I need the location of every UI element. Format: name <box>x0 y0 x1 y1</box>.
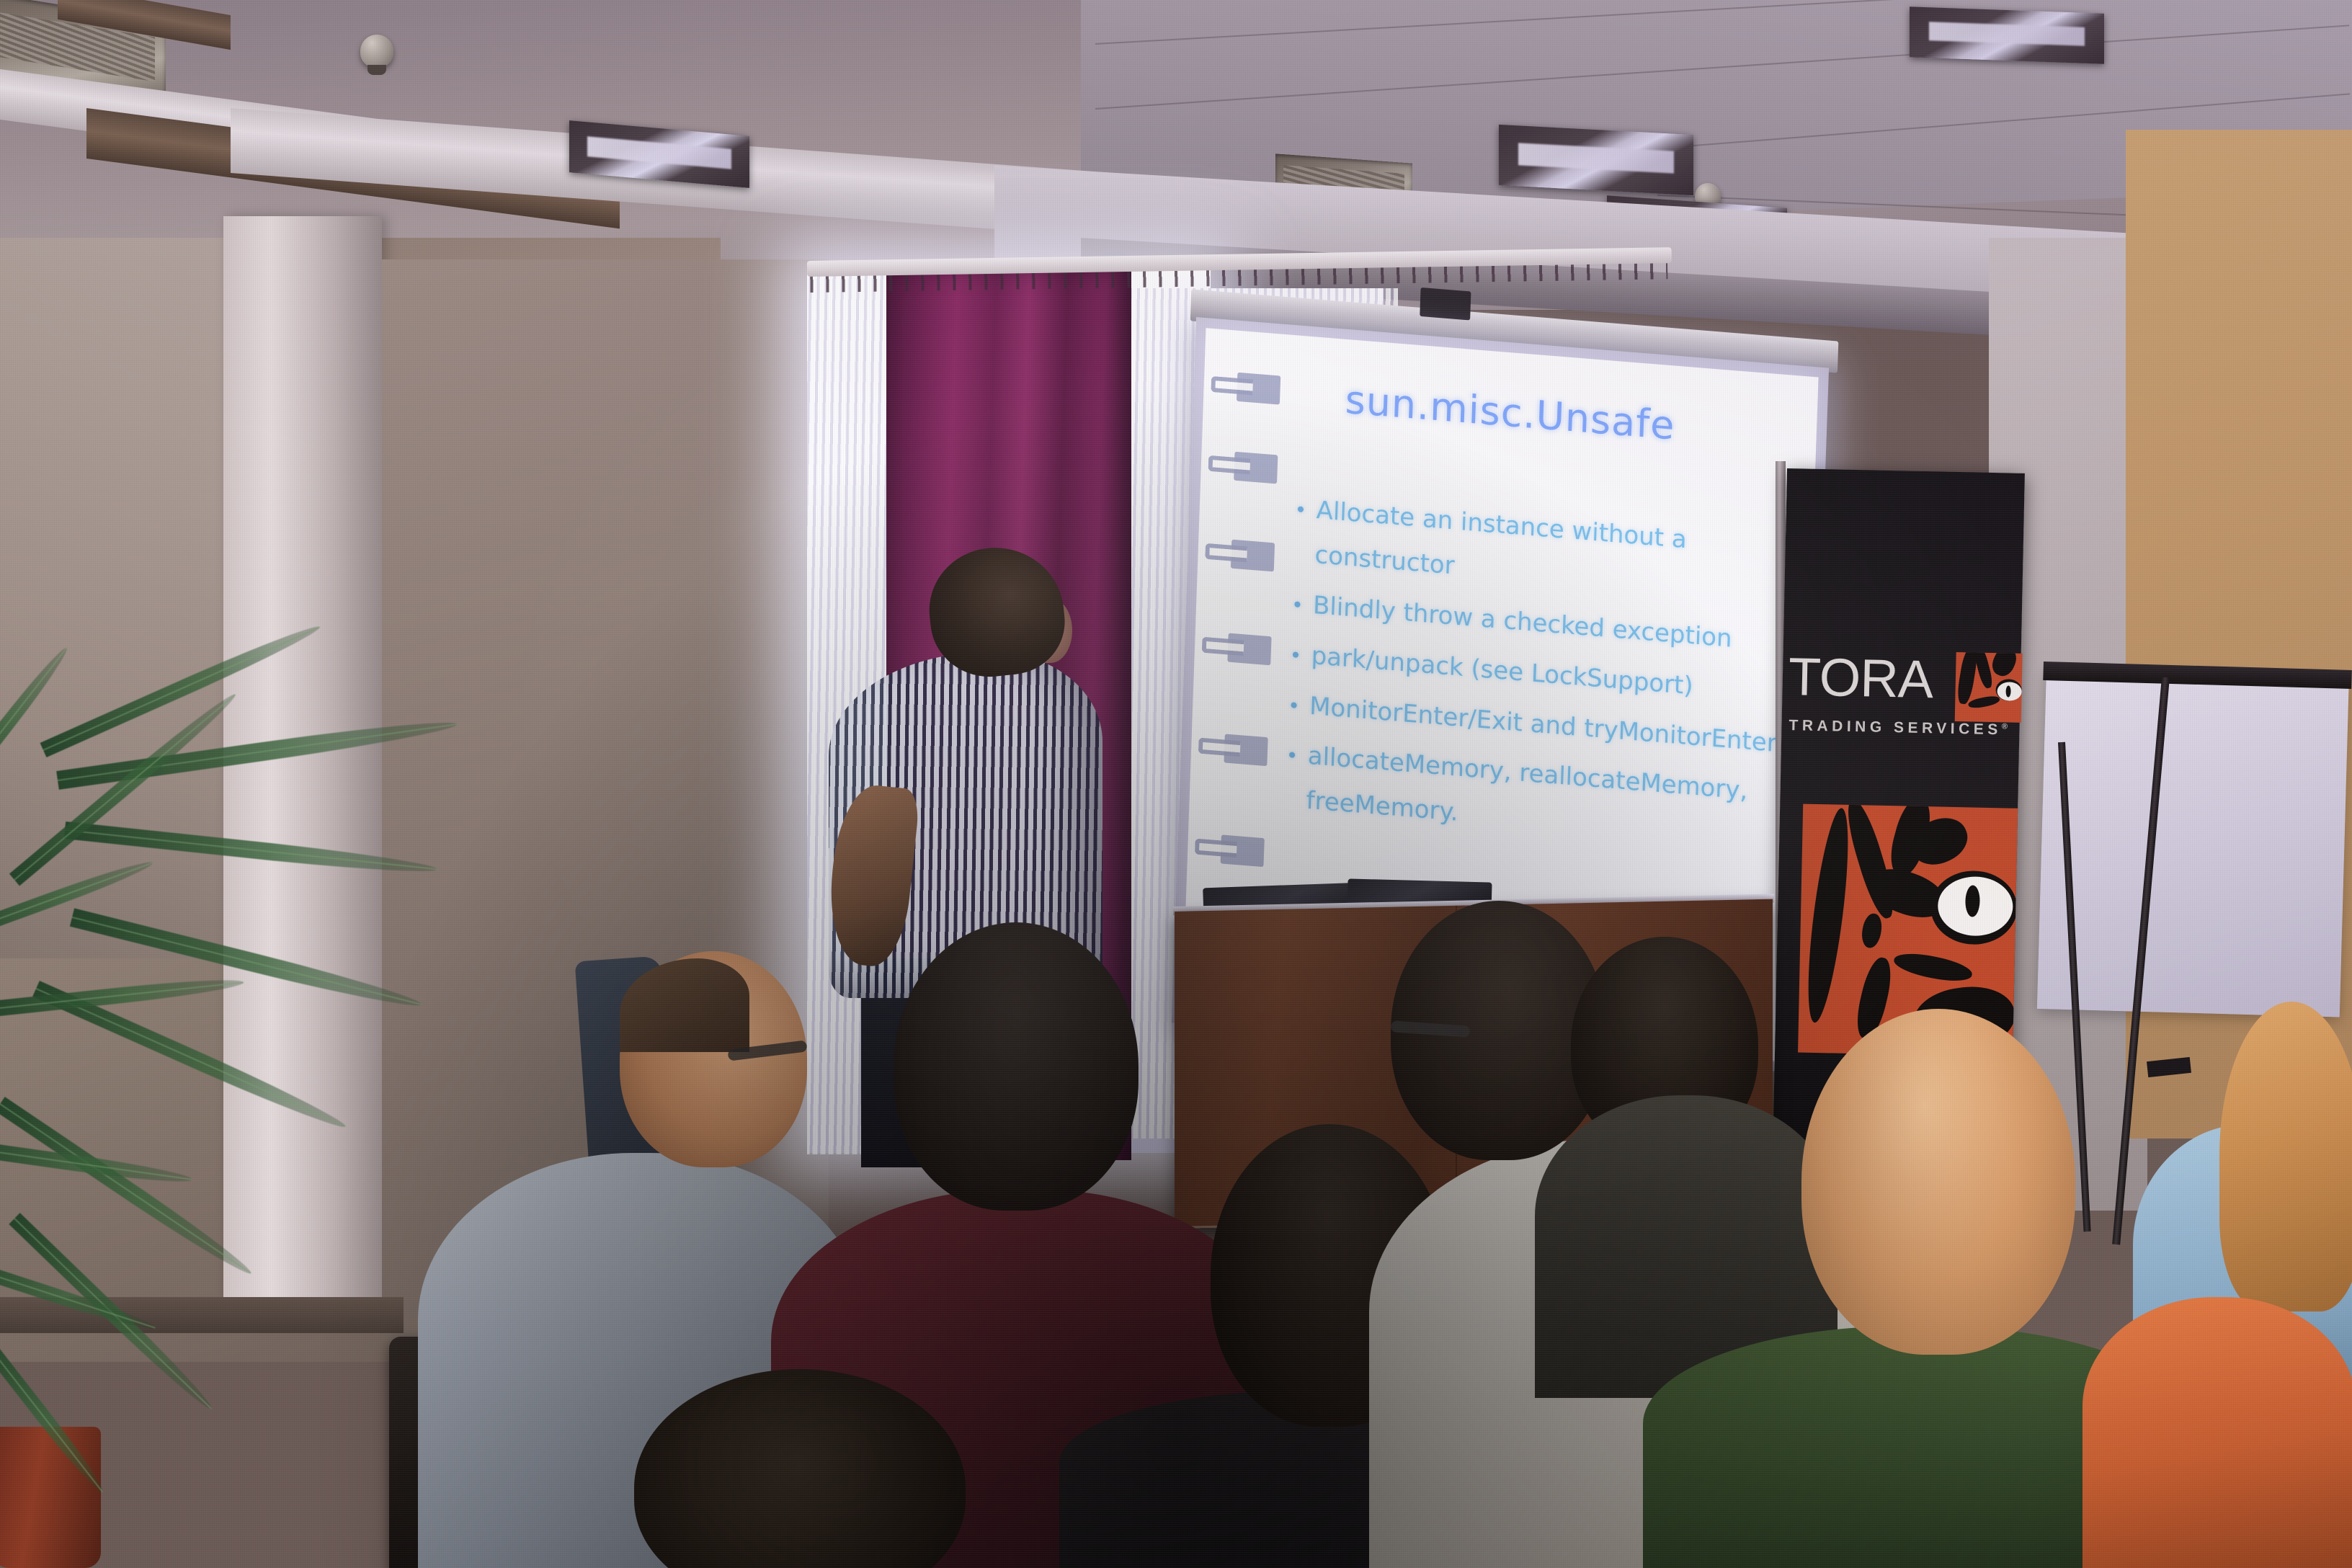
flipchart-paper <box>2037 670 2349 1017</box>
screen-mount-bracket <box>1420 288 1471 321</box>
slide-binding-ring <box>1208 450 1278 484</box>
conference-room-photo: sun.misc.Unsafe Allocate an instance wit… <box>0 0 2352 1568</box>
recessed-light-icon <box>1499 125 1693 195</box>
attendee-head <box>894 922 1139 1211</box>
recessed-light-icon <box>1910 6 2104 63</box>
slide-binding-ring <box>1201 631 1271 666</box>
slide-binding-ring <box>1198 732 1268 767</box>
tiger-eye-icon <box>1955 652 2023 723</box>
banner-wordmark: TORA <box>1788 650 1954 707</box>
attendee-torso <box>2082 1297 2352 1568</box>
attendee-hair-blonde <box>2219 1002 2352 1311</box>
trademark-symbol: ® <box>2002 722 2012 731</box>
smoke-detector-icon <box>360 35 393 68</box>
slide-binding-ring <box>1195 832 1265 867</box>
banner-tagline-text: TRADING SERVICES <box>1788 717 2002 738</box>
slide-bullet-list: Allocate an instance without a construct… <box>1283 487 1799 868</box>
slide-title: sun.misc.Unsafe <box>1203 365 1817 460</box>
slide-binding-ring <box>1205 538 1275 572</box>
attendee-head <box>1801 1009 2075 1355</box>
banner-tagline: TRADING SERVICES® <box>1788 717 2011 739</box>
